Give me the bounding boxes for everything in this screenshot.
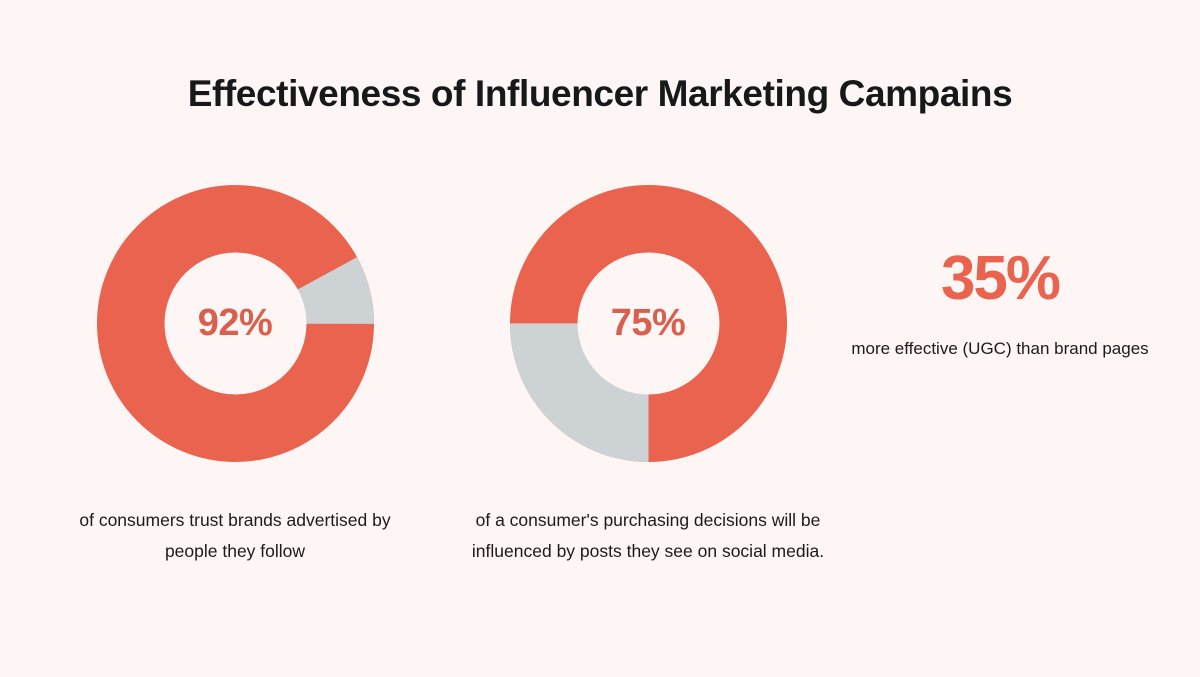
page-title: Effectiveness of Influencer Marketing Ca… — [0, 74, 1200, 115]
stats-row: 92% of consumers trust brands advertised… — [0, 185, 1200, 625]
donut-center-value: 92% — [97, 185, 374, 462]
stat-big-value: 35% — [845, 248, 1155, 310]
stat-block-purchasing-decisions: 75% of a consumer's purchasing decisions… — [458, 185, 838, 566]
stat-block-consumer-trust: 92% of consumers trust brands advertised… — [45, 185, 425, 566]
donut-chart-consumer-trust: 92% — [45, 185, 425, 463]
stat-caption: of consumers trust brands advertised by … — [45, 505, 425, 566]
donut-chart-purchasing-decisions: 75% — [458, 185, 838, 463]
stat-caption: more effective (UGC) than brand pages — [845, 334, 1155, 365]
donut-center-value: 75% — [510, 185, 787, 462]
donut-graphic: 92% — [97, 185, 374, 462]
stat-block-ugc-effectiveness: 35% more effective (UGC) than brand page… — [845, 185, 1155, 365]
donut-graphic: 75% — [510, 185, 787, 462]
stat-caption: of a consumer's purchasing decisions wil… — [458, 505, 838, 566]
